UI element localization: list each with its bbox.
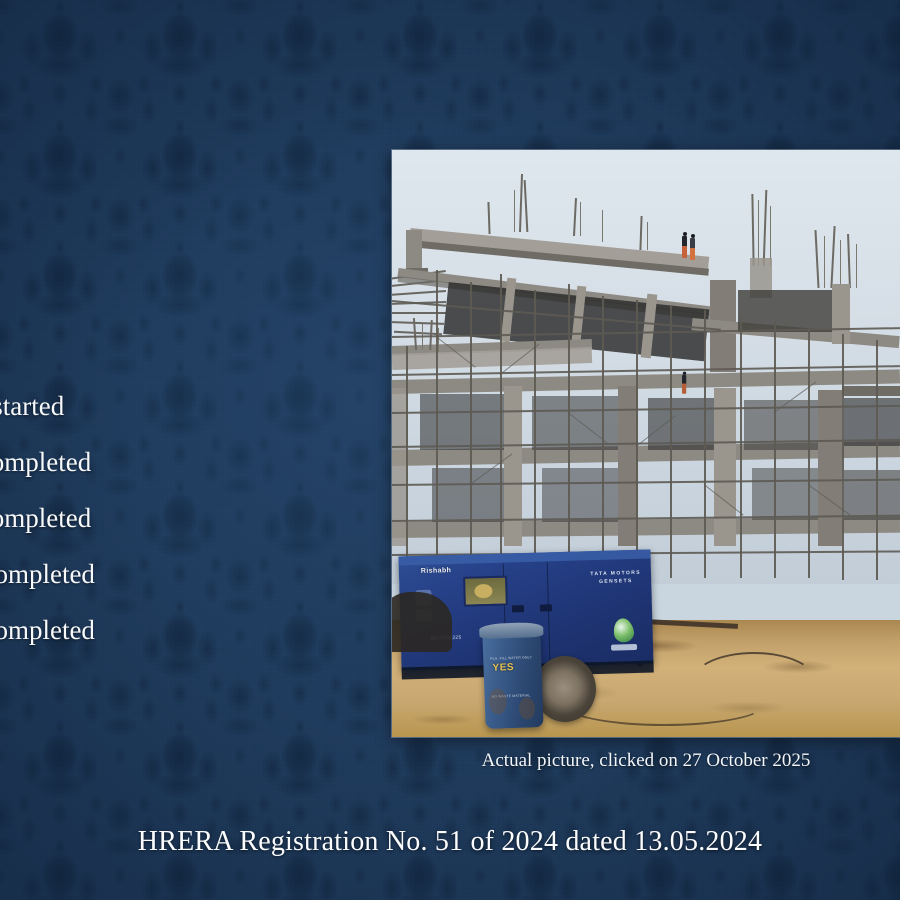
- drum-label: YES: [492, 662, 514, 674]
- generator-maker-label: TATA MOTORS GENSETS: [590, 570, 641, 586]
- scaffold-pole: [876, 340, 878, 580]
- bullet-item-2: nstruction completed: [0, 449, 332, 476]
- scaffold-pole: [636, 300, 638, 576]
- floor-slab-right: [842, 386, 900, 396]
- column: [714, 388, 736, 546]
- generator-maker-line-2: GENSETS: [590, 577, 641, 586]
- column: [818, 390, 842, 546]
- rebar: [770, 206, 771, 266]
- column: [832, 284, 850, 344]
- content-text-column: on Update onstruction started nstruction…: [0, 325, 332, 673]
- worker-legs: [682, 246, 687, 258]
- bullet-item-5: tural work completed: [0, 617, 332, 644]
- bullet-item-3: work is in completed: [0, 505, 332, 532]
- facade-bay: [844, 470, 900, 520]
- facade-bay: [752, 468, 822, 520]
- green-leaf-drop-icon: [610, 618, 637, 651]
- scaffold-pole: [740, 316, 742, 578]
- debris-mound: [392, 592, 452, 652]
- bullet-list: onstruction started nstruction completed…: [0, 393, 332, 644]
- scaffold-pole: [406, 346, 408, 572]
- scaffold-pole: [774, 322, 776, 578]
- water-drum: YES PLS. FILL WATER ONLY NO WASTE MATERI…: [482, 631, 543, 729]
- facade-bay: [420, 394, 504, 450]
- scaffold-pole: [436, 270, 438, 570]
- scaffold-pole: [808, 328, 810, 578]
- generator-latch: [540, 604, 552, 611]
- worker-legs: [682, 384, 686, 394]
- scaffold-pole: [500, 274, 502, 574]
- slide-heading: on Update: [0, 325, 332, 359]
- generator-control-window: [463, 576, 508, 607]
- scaffold-pole: [470, 282, 472, 574]
- leaf-drop-shape: [612, 617, 636, 644]
- open-floor-bay: [738, 290, 834, 332]
- rebar: [602, 210, 603, 242]
- scaffold-pole: [602, 296, 604, 576]
- photo-caption: Actual picture, clicked on 27 October 20…: [392, 750, 900, 772]
- drum-note-1: PLS. FILL WATER ONLY: [490, 655, 532, 660]
- generator-maker-line-1: TATA MOTORS: [590, 570, 641, 579]
- rebar: [824, 236, 825, 288]
- worker-legs: [690, 248, 695, 260]
- rebar: [580, 202, 581, 236]
- rebar: [514, 190, 515, 232]
- scaffold-pole: [704, 310, 706, 578]
- generator-brand-label: Rishabh: [421, 567, 452, 575]
- drum-lid: [479, 622, 543, 639]
- construction-photo: Rishabh TATA MOTORS GENSETS 8810145225: [392, 150, 900, 737]
- drum-weathering: [488, 688, 507, 715]
- facade-bay: [542, 468, 622, 522]
- scaffold-pole: [568, 284, 570, 574]
- hrera-registration-footer: HRERA Registration No. 51 of 2024 dated …: [0, 826, 900, 858]
- generator-latch: [512, 605, 524, 612]
- scaffold-pole: [842, 334, 844, 580]
- rebar: [856, 244, 857, 288]
- rebar: [840, 240, 841, 288]
- presentation-slide: on Update onstruction started nstruction…: [0, 0, 900, 900]
- tyre: [534, 656, 596, 722]
- rebar: [647, 222, 648, 250]
- leaf-logo-band: [611, 644, 637, 651]
- bullet-item-4: tural work completed: [0, 561, 332, 588]
- bullet-item-1: onstruction started: [0, 393, 332, 420]
- photo-canvas: Rishabh TATA MOTORS GENSETS 8810145225: [392, 150, 900, 737]
- rebar: [758, 200, 759, 266]
- drum-weathering: [519, 697, 536, 720]
